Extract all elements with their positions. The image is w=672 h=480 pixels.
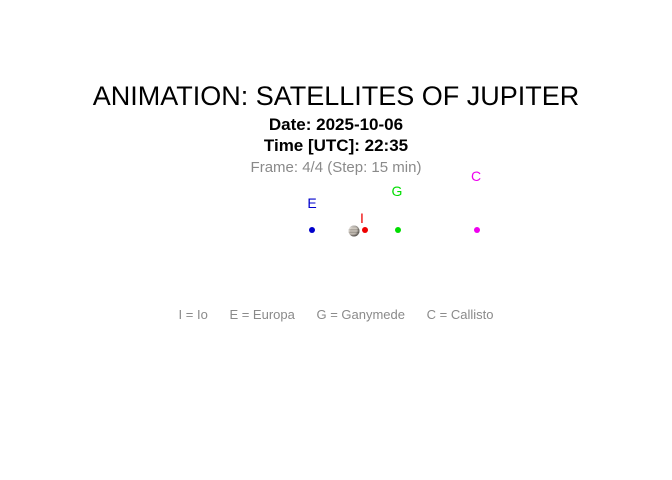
legend: I = Io E = Europa G = Ganymede C = Calli… — [0, 307, 672, 322]
satellite-field: E I G C — [0, 0, 672, 480]
jupiter-disk — [349, 226, 360, 237]
moon-marker-io — [362, 227, 368, 233]
animation-canvas: ANIMATION: SATELLITES OF JUPITER Date: 2… — [0, 0, 672, 480]
moon-label-europa: E — [307, 196, 316, 210]
legend-entry-europa: E = Europa — [229, 307, 294, 322]
moon-label-callisto: C — [471, 169, 481, 183]
legend-entry-io: I = Io — [179, 307, 208, 322]
legend-entry-ganymede: G = Ganymede — [316, 307, 405, 322]
moon-marker-callisto — [474, 227, 480, 233]
legend-entry-callisto: C = Callisto — [427, 307, 494, 322]
moon-label-ganymede: G — [392, 184, 403, 198]
moon-label-io: I — [360, 211, 364, 225]
moon-marker-europa — [309, 227, 315, 233]
moon-marker-ganymede — [395, 227, 401, 233]
